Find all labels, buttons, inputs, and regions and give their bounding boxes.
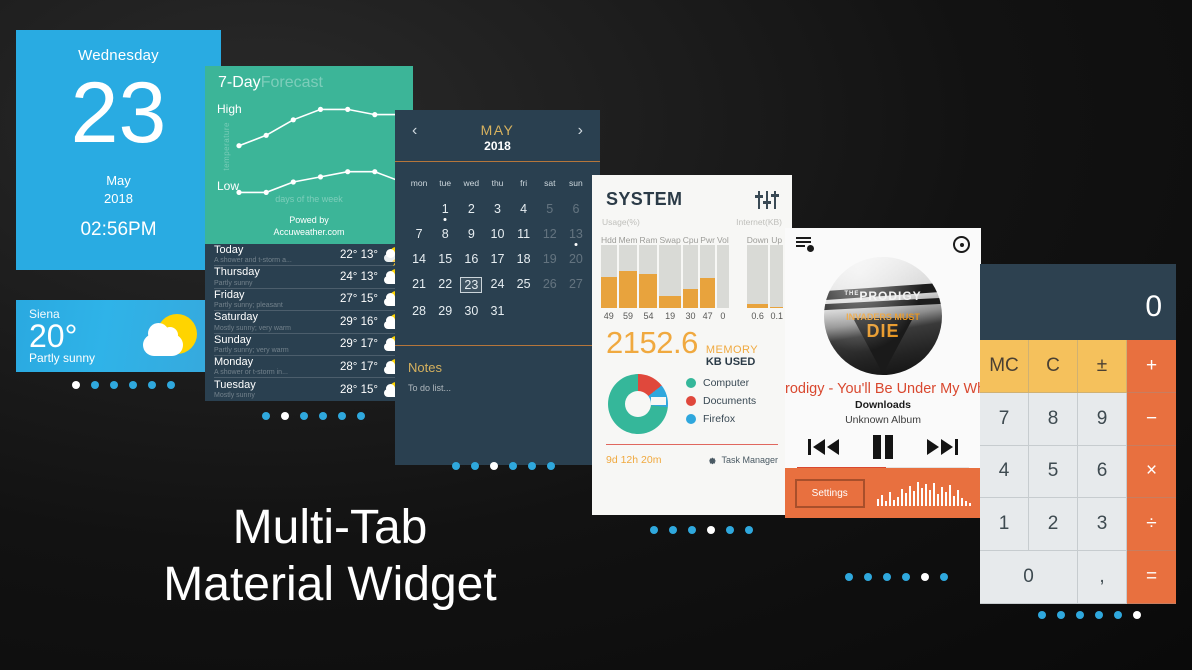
internet-label: Internet(KB) [736,217,782,227]
calendar-day-27[interactable]: 27 [563,272,589,299]
calendar-day-14[interactable]: 14 [406,247,432,272]
gear-icon [706,455,717,466]
equalizer-bar [913,491,916,506]
forecast-chart-panel: 7-DayForecast High Low temperature days … [205,66,413,244]
calculator-keypad[interactable]: MCC±+789−456×123÷0,= [980,340,1176,604]
system-bar-track [717,245,729,308]
forecast-page-dots[interactable] [262,412,365,420]
system-bar-swap: Swap19 [659,231,680,321]
album-art: THEPRODIGY INVADERS MUST DIE [824,257,942,375]
memory-readout: 2152.6 MEMORY KB USED [592,321,792,368]
calc-key-,[interactable]: , [1078,551,1127,604]
system-bar-hdd: Hdd49 [601,231,617,321]
system-bar-label: Down [747,235,769,245]
system-header: SYSTEM [592,175,792,210]
forecast-title-light: Forecast [261,74,323,91]
system-usage-chart: Usage(%) Internet(KB) Hdd49Mem59Ram54Swa… [592,210,792,321]
calendar-day-13[interactable]: 13 [563,222,589,247]
calc-key-+[interactable]: + [1127,340,1176,393]
forecast-day-row[interactable]: TodayA shower and t-storm a...22° 13°⚡ [214,244,404,266]
system-bar-label: Pwr [700,235,715,245]
memory-label-bottom: KB USED [706,356,758,368]
equalizer-bar [925,484,928,506]
calendar-day-6[interactable]: 6 [563,197,589,222]
forecast-attribution-line1: Powed by [205,214,413,226]
calendar-day-15[interactable]: 15 [432,247,458,272]
equalizer-bar [933,483,936,506]
forecast-day-desc: Mostly sunny [214,392,340,399]
legend-item: Computer [686,377,756,389]
system-bar-value: 59 [619,311,638,321]
title-line-2: Material Widget [120,557,540,614]
forecast-day-desc: Partly sunny; very warm [214,347,340,354]
forecast-day-name: Tuesday [214,380,340,391]
date-weekday: Wednesday [16,47,221,64]
forecast-day-temps: 29° 16° [340,316,378,328]
calendar-day-empty [537,299,563,324]
system-bar-up: Up0.1 [770,231,783,321]
system-monitor-widget[interactable]: SYSTEM Usage(%) Internet(KB) Hdd49Mem59R… [592,175,792,515]
system-bar-track [683,245,699,308]
current-weather-widget[interactable]: Siena 20° Partly sunny [16,300,211,372]
music-page-dots[interactable] [845,573,948,581]
system-bar-track [639,245,657,308]
calc-key-MC[interactable]: MC [980,340,1029,393]
forecast-day-temps: 28° 17° [340,361,378,373]
calc-key-±[interactable]: ± [1078,340,1127,393]
equalizer-bar [917,482,920,506]
calendar-day-23[interactable]: 23 [458,272,484,299]
equalizer-bar [957,490,960,506]
calendar-day-7[interactable]: 7 [406,222,432,247]
weather-condition: Partly sunny [29,351,95,365]
calculator-page-dots[interactable] [1038,611,1141,619]
equalizer-bar [969,503,972,506]
calc-key-C[interactable]: C [1029,340,1078,393]
equalizer-bar [945,492,948,506]
forecast-day-temps: 22° 13° [340,249,378,261]
system-bars: Hdd49Mem59Ram54Swap19Cpu30Pwr47Vol0Down0… [601,231,783,321]
system-bar-mem: Mem59 [619,231,638,321]
calendar-week-row: 123456 [406,197,589,222]
sliders-icon[interactable] [756,191,778,209]
forecast-day-desc: Partly sunny [214,280,340,287]
forecast-day-name: Today [214,245,340,256]
equalizer-bar [941,487,944,506]
calendar-day-1[interactable]: 1 [432,197,458,222]
forecast-day-temps: 29° 17° [340,338,378,350]
forecast-day-name: Thursday [214,267,340,278]
calendar-notes[interactable]: Notes To do list... [395,345,600,407]
music-footer: Settings [785,468,981,518]
system-bar-label: Cpu [683,235,699,245]
calendar-day-17[interactable]: 17 [484,247,510,272]
equalizer-bar [921,488,924,506]
calendar-day-28[interactable]: 28 [406,299,432,324]
date-widget[interactable]: Wednesday 23 May 2018 02:56PM [16,30,221,270]
system-bar-down: Down0.6 [747,231,769,321]
equalizer-icon [877,480,972,506]
calendar-day-26[interactable]: 26 [537,272,563,299]
forecast-title: 7-DayForecast [218,74,323,92]
calc-key-=[interactable]: = [1127,551,1176,604]
calendar-month: MAY [395,110,600,138]
forecast-day-temps: 27° 15° [340,293,378,305]
system-chart-labels: Usage(%) Internet(KB) [601,217,783,227]
equalizer-bar [893,500,896,506]
disc-icon[interactable] [953,236,970,253]
calendar-day-25[interactable]: 25 [511,272,537,299]
system-bar-label: Mem [619,235,638,245]
calendar-week-row: 28293031 [406,299,589,324]
forecast-day-name: Sunday [214,335,340,346]
calendar-weekday: wed [458,172,484,197]
forecast-attribution: Powed by Accuweather.com [205,214,413,238]
track-title: rodigy - You'll Be Under My Whee [785,381,981,397]
equalizer-bar [897,497,900,506]
system-bar-value: 54 [639,311,657,321]
system-bar-pwr: Pwr47 [700,231,715,321]
calendar-day-11[interactable]: 11 [511,222,537,247]
sun-cloud-icon [143,310,199,362]
calendar-year: 2018 [395,139,600,153]
system-bar-label: Hdd [601,235,617,245]
system-bar-cpu: Cpu30 [683,231,699,321]
calendar-weekday: sun [563,172,589,197]
legend-item: Documents [686,395,756,407]
calendar-day-empty [511,299,537,324]
forecast-widget[interactable]: 7-DayForecast High Low temperature days … [205,66,413,401]
calendar-event-dot [574,243,577,246]
legend-item: Firefox [686,413,756,425]
siena-page-dots[interactable] [72,381,175,389]
equalizer-bar [901,489,904,506]
system-bar-vol: Vol0 [717,231,729,321]
forecast-title-bold: 7-Day [218,74,261,91]
system-bar-value: 19 [659,311,680,321]
calc-key-3[interactable]: 3 [1078,498,1127,551]
calendar-weekday-row: montuewedthufrisatsun [406,172,589,197]
calc-key-−[interactable]: − [1127,393,1176,446]
calendar-week-row: 14151617181920 [406,247,589,272]
calc-key-7[interactable]: 7 [980,393,1029,446]
calendar-weekday: sat [537,172,563,197]
calendar-week-row: 21222324252627 [406,272,589,299]
legend-label: Documents [703,395,756,407]
calendar-day-12[interactable]: 12 [537,222,563,247]
memory-legend: ComputerDocumentsFirefox [686,377,756,431]
playlist-add-icon[interactable] [796,236,813,251]
system-footer: 9d 12h 20m Task Manager [606,444,778,466]
equalizer-bar [877,499,880,506]
system-bar-label: Vol [717,235,729,245]
forecast-day-desc: A shower and t-storm a... [214,257,340,264]
date-daynumber: 23 [16,70,221,156]
system-page-dots[interactable] [650,526,753,534]
system-bar-value: 30 [683,311,699,321]
equalizer-bar [905,493,908,506]
calc-key-9[interactable]: 9 [1078,393,1127,446]
calendar-page-dots[interactable] [452,462,555,470]
calendar-day-16[interactable]: 16 [458,247,484,272]
calc-key-0[interactable]: 0 [980,551,1078,604]
equalizer-bar [909,486,912,506]
memory-label-top: MEMORY [706,344,758,356]
equalizer-bar [949,485,952,506]
forecast-day-list: TodayA shower and t-storm a...22° 13°⚡Th… [205,244,413,401]
calc-key-8[interactable]: 8 [1029,393,1078,446]
system-bar-track [700,245,715,308]
calendar-weekday: mon [406,172,432,197]
calendar-weekday: thu [484,172,510,197]
calculator-display-value: 0 [1145,290,1162,324]
pause-icon[interactable] [870,434,896,460]
system-bar-track [619,245,638,308]
calc-key-1[interactable]: 1 [980,498,1029,551]
forecast-day-temps: 24° 13° [340,271,378,283]
system-bar-label: Ram [639,235,657,245]
forecast-day-row[interactable]: ThursdayPartly sunny24° 13° [214,266,404,288]
memory-value: 2152.6 [606,325,698,361]
date-time: 02:56PM [16,219,221,241]
calc-key-5[interactable]: 5 [1029,446,1078,499]
calculator-display: 0 [980,264,1176,340]
calendar-day-31[interactable]: 31 [484,299,510,324]
system-bar-label: Swap [659,235,680,245]
system-bar-track [659,245,680,308]
calendar-weekday: tue [432,172,458,197]
equalizer-bar [953,496,956,506]
equalizer-bar [937,494,940,506]
task-manager-button[interactable]: Task Manager [706,455,778,466]
calendar-header: ‹ › MAY 2018 [395,110,600,162]
forecast-day-row[interactable]: SundayPartly sunny; very warm29° 17° [214,334,404,356]
calc-key-×[interactable]: × [1127,446,1176,499]
system-bar-value: 0 [717,311,729,321]
calendar-weekday: fri [511,172,537,197]
calendar-day-2[interactable]: 2 [458,197,484,222]
weather-temperature: 20° [29,318,77,355]
forecast-day-row[interactable]: SaturdayMostly sunny; very warm29° 16° [214,311,404,333]
system-bar-ram: Ram54 [639,231,657,321]
notes-body[interactable]: To do list... [408,383,587,393]
forecast-day-desc: A shower or t-storm in... [214,369,340,376]
date-year: 2018 [16,190,221,208]
memory-donut-chart [608,374,668,434]
equalizer-bar [881,495,884,506]
calendar-event-dot [444,218,447,221]
calendar-day-20[interactable]: 20 [563,247,589,272]
forecast-day-name: Saturday [214,312,340,323]
calendar-day-22[interactable]: 22 [432,272,458,299]
calendar-day-10[interactable]: 10 [484,222,510,247]
calendar-widget[interactable]: ‹ › MAY 2018 montuewedthufrisatsun123456… [395,110,600,465]
calc-key-2[interactable]: 2 [1029,498,1078,551]
calendar-day-29[interactable]: 29 [432,299,458,324]
system-bar-track [747,245,769,308]
equalizer-bar [889,492,892,506]
calendar-day-empty [406,197,432,222]
track-source: Downloads [785,399,981,411]
calc-key-4[interactable]: 4 [980,446,1029,499]
chevron-right-icon[interactable]: › [578,122,583,140]
forecast-day-name: Monday [214,357,340,368]
system-uptime: 9d 12h 20m [606,454,661,466]
system-title: SYSTEM [606,189,682,210]
forecast-day-row[interactable]: FridayPartly sunny; pleasant27° 15° [214,289,404,311]
system-bar-value: 49 [601,311,617,321]
forecast-attribution-line2: Accuweather.com [205,226,413,238]
task-manager-label: Task Manager [721,455,778,465]
skip-previous-icon[interactable] [808,437,840,457]
calendar-grid[interactable]: montuewedthufrisatsun1234567891011121314… [395,162,600,324]
notes-title: Notes [408,360,587,375]
forecast-axis-x-label: days of the week [205,194,413,204]
legend-label: Firefox [703,413,735,425]
system-bar-value: 0.1 [770,311,783,321]
usage-label: Usage(%) [602,217,640,227]
forecast-day-name: Friday [214,290,340,301]
desktop-background: Wednesday 23 May 2018 02:56PM Siena 20° … [0,0,1192,670]
page-title: Multi-Tab Material Widget [120,500,540,613]
system-bar-track [770,245,783,308]
equalizer-bar [885,501,888,506]
forecast-day-row[interactable]: TuesdayMostly sunny28° 15° [214,378,404,400]
title-line-1: Multi-Tab [120,500,540,557]
system-bar-label: Up [770,235,783,245]
equalizer-bar [965,501,968,506]
forecast-axis-y-label: temperature [222,122,231,171]
calendar-day-5[interactable]: 5 [537,197,563,222]
forecast-day-desc: Mostly sunny; very warm [214,325,340,332]
calendar-day-8[interactable]: 8 [432,222,458,247]
forecast-day-temps: 28° 15° [340,384,378,396]
system-bar-value: 0.6 [747,311,769,321]
settings-button[interactable]: Settings [795,479,865,508]
calendar-day-21[interactable]: 21 [406,272,432,299]
calc-key-6[interactable]: 6 [1078,446,1127,499]
equalizer-bar [961,498,964,506]
calendar-day-3[interactable]: 3 [484,197,510,222]
calendar-day-19[interactable]: 19 [537,247,563,272]
calendar-day-24[interactable]: 24 [484,272,510,299]
calendar-week-row: 78910111213 [406,222,589,247]
calendar-day-4[interactable]: 4 [511,197,537,222]
calendar-day-empty [563,299,589,324]
forecast-day-row[interactable]: MondayA shower or t-storm in...28° 17° [214,356,404,378]
calc-key-÷[interactable]: ÷ [1127,498,1176,551]
calendar-day-30[interactable]: 30 [458,299,484,324]
system-bar-value: 47 [700,311,715,321]
date-month: May [16,172,221,190]
track-album: Unknown Album [785,414,981,426]
calculator-widget[interactable]: 0 MCC±+789−456×123÷0,= [980,264,1176,604]
system-bar-track [601,245,617,308]
legend-label: Computer [703,377,749,389]
player-controls [785,434,981,460]
music-toolbar [785,228,981,253]
skip-next-icon[interactable] [926,437,958,457]
music-player-widget[interactable]: THEPRODIGY INVADERS MUST DIE rodigy - Yo… [785,228,981,518]
forecast-day-desc: Partly sunny; pleasant [214,302,340,309]
chevron-left-icon[interactable]: ‹ [412,122,417,140]
calendar-day-18[interactable]: 18 [511,247,537,272]
calendar-day-9[interactable]: 9 [458,222,484,247]
equalizer-bar [929,490,932,506]
memory-breakdown: ComputerDocumentsFirefox [592,368,792,434]
